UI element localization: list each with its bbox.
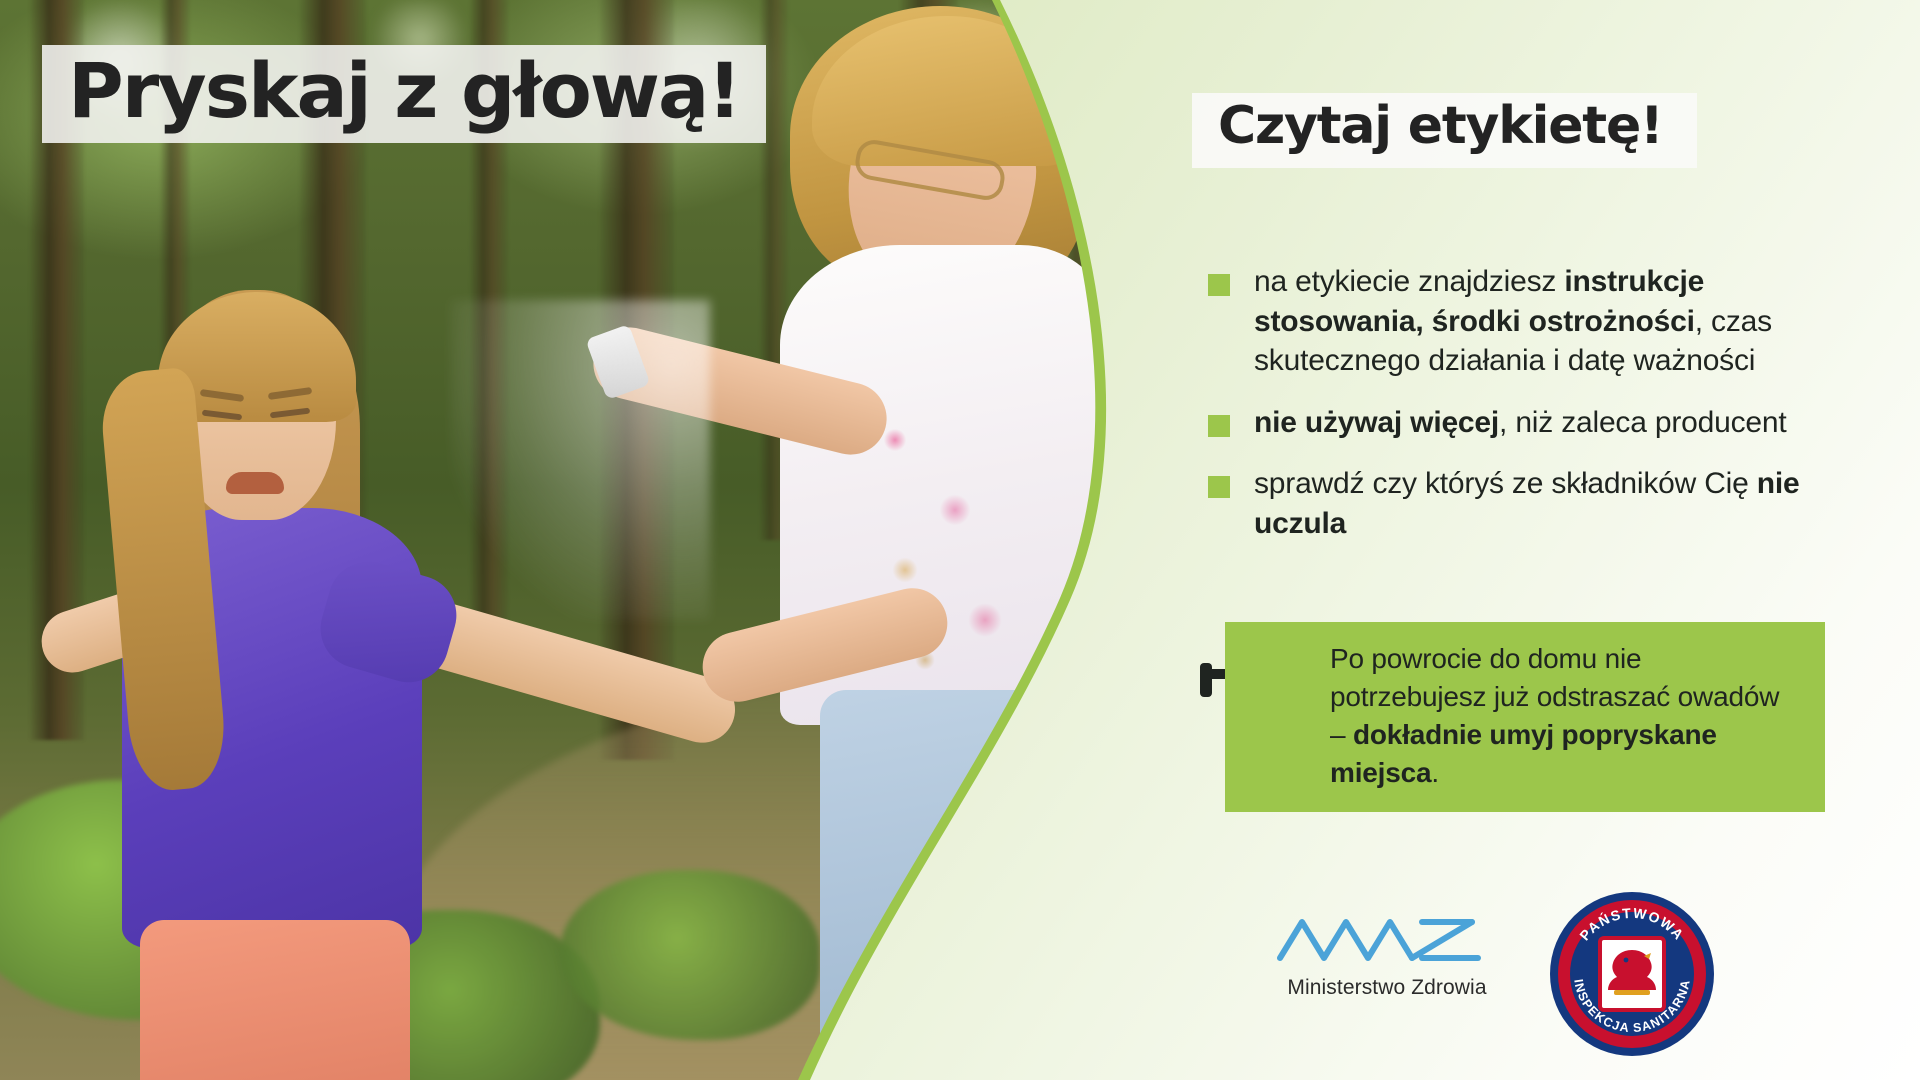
- plain-text: sprawdź czy któryś ze składników Cię: [1254, 467, 1757, 500]
- subtitle-banner: Czytaj etykietę!: [1192, 93, 1697, 168]
- emphasis-text: nie używaj więcej: [1254, 406, 1499, 439]
- callout-text: Po powrocie do domu nie potrzebujesz już…: [1330, 640, 1800, 792]
- bullet-item: nie używaj więcej, niż zaleca producent: [1208, 403, 1858, 443]
- ministerstwo-zdrowia-label: Ministerstwo Zdrowia: [1262, 976, 1512, 1000]
- square-bullet-icon: [1208, 415, 1230, 437]
- title-banner: Pryskaj z głową!: [42, 45, 766, 143]
- plain-text: na etykiecie znajdziesz: [1254, 265, 1564, 298]
- callout-box: Po powrocie do domu nie potrzebujesz już…: [1225, 622, 1825, 812]
- bullet-list: na etykiecie znajdziesz instrukcje stoso…: [1208, 262, 1858, 566]
- square-bullet-icon: [1208, 476, 1230, 498]
- bullet-text: na etykiecie znajdziesz instrukcje stoso…: [1254, 262, 1858, 381]
- bullet-text: sprawdź czy któryś ze składników Cię nie…: [1254, 464, 1858, 543]
- square-bullet-icon: [1208, 274, 1230, 296]
- bullet-item: na etykiecie znajdziesz instrukcje stoso…: [1208, 262, 1858, 381]
- panstwowa-inspekcja-sanitarna-logo[interactable]: PAŃSTWOWA INSPEKCJA SANITARNA: [1548, 890, 1716, 1058]
- page-title: Pryskaj z głową!: [68, 53, 740, 129]
- plain-text: , niż zaleca producent: [1499, 406, 1786, 439]
- plain-text: .: [1431, 757, 1439, 788]
- poster-root: Pryskaj z głową! Czytaj etykietę! na ety…: [0, 0, 1920, 1080]
- girl-pink-shorts: [140, 920, 410, 1080]
- section-heading: Czytaj etykietę!: [1218, 99, 1663, 154]
- ministerstwo-zdrowia-logo[interactable]: Ministerstwo Zdrowia: [1262, 900, 1512, 1000]
- emphasis-text: dokładnie umyj popryskane miejsca: [1330, 719, 1717, 788]
- bullet-text: nie używaj więcej, niż zaleca producent: [1254, 403, 1787, 443]
- spray-mist: [450, 300, 710, 620]
- mz-wave-mark: [1272, 900, 1502, 970]
- bullet-item: sprawdź czy któryś ze składników Cię nie…: [1208, 464, 1858, 543]
- girl-mouth: [226, 472, 284, 494]
